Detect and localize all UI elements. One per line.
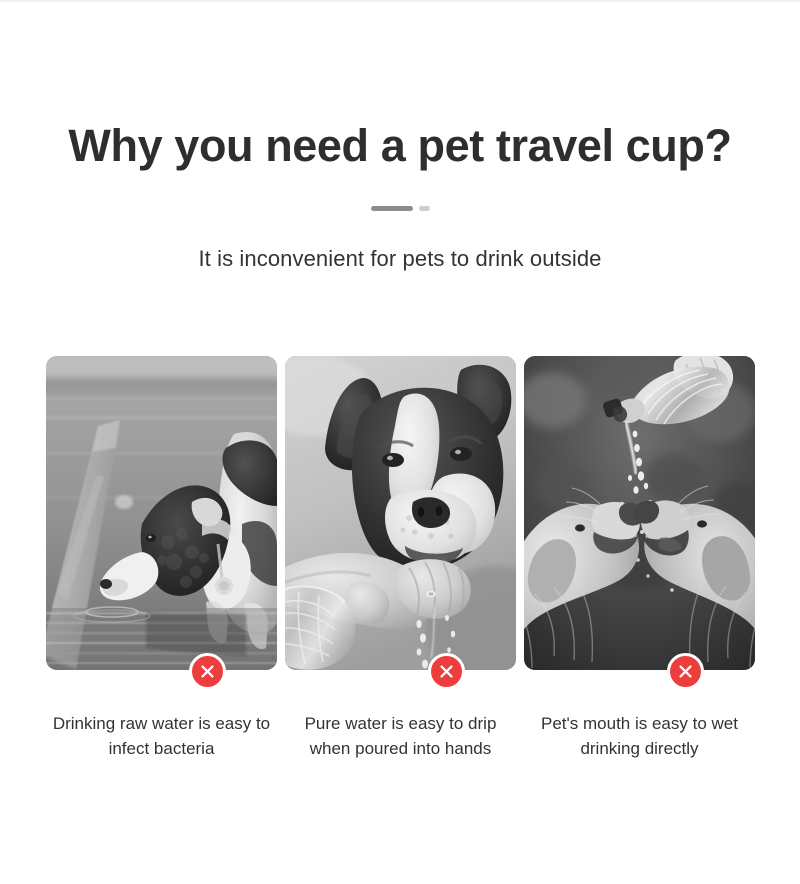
photo-dog-drinking-raw-water (46, 356, 277, 670)
page-subtitle: It is inconvenient for pets to drink out… (0, 246, 800, 272)
promo-page: Why you need a pet travel cup? It is inc… (0, 0, 800, 884)
x-cross-icon (438, 663, 455, 680)
x-cross-badge-2 (428, 653, 465, 690)
image-card-3 (524, 356, 755, 670)
photo-dogs-drinking-poured-water (524, 356, 755, 670)
card-caption-2: Pure water is easy to drip when poured i… (285, 712, 516, 761)
title-divider (0, 206, 800, 211)
badge-row (46, 653, 754, 691)
x-cross-icon (199, 663, 216, 680)
image-card-list (46, 356, 754, 670)
card-caption-3: Pet's mouth is easy to wet drinking dire… (524, 712, 755, 761)
top-divider-rule (0, 0, 800, 2)
page-title: Why you need a pet travel cup? (0, 122, 800, 169)
x-cross-badge-3 (667, 653, 704, 690)
photo-dog-drinking-from-hands (285, 356, 516, 670)
image-card-2 (285, 356, 516, 670)
image-card-1 (46, 356, 277, 670)
divider-short-bar (419, 206, 430, 211)
caption-row: Drinking raw water is easy to infect bac… (46, 712, 754, 761)
card-caption-1: Drinking raw water is easy to infect bac… (46, 712, 277, 761)
x-cross-icon (677, 663, 694, 680)
x-cross-badge-1 (189, 653, 226, 690)
divider-long-bar (371, 206, 413, 211)
